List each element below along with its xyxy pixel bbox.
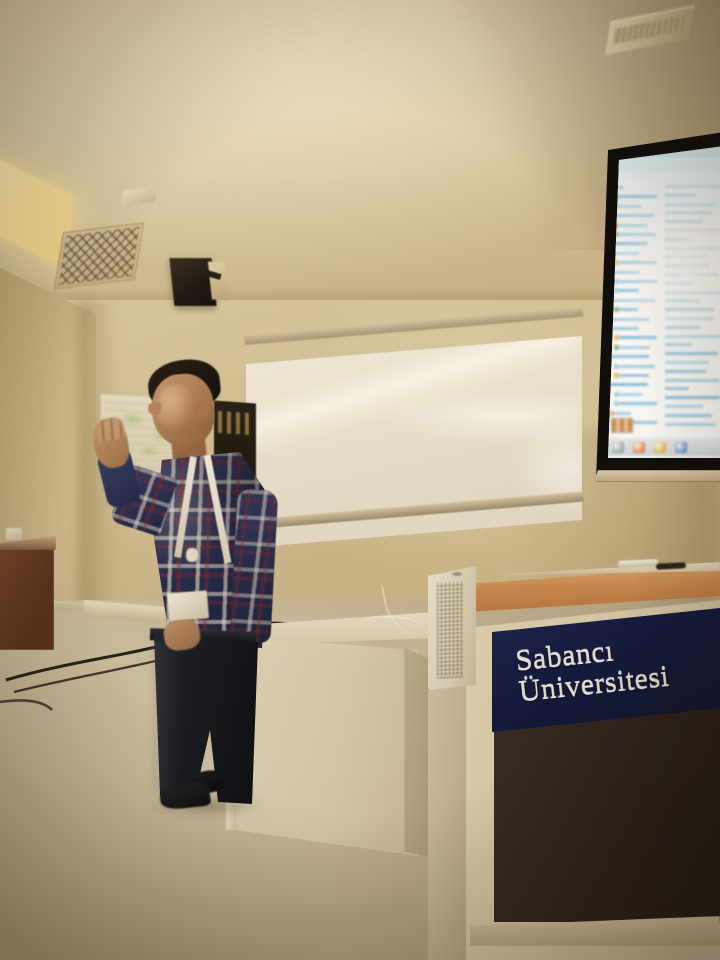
- screen-list-row: [665, 194, 696, 197]
- presenter-face-highlight: [156, 384, 196, 432]
- presenter-trousers-highlight: [152, 642, 192, 792]
- screen-tree-row: [619, 308, 638, 311]
- screen-list-row: [665, 335, 720, 338]
- screen-list-row: [665, 273, 718, 276]
- screen-tree-row: [614, 242, 648, 245]
- screen-tree-row: [619, 280, 660, 283]
- screen-tree-row: [619, 233, 656, 236]
- screen-file-list: [657, 180, 720, 438]
- projection-screen-display[interactable]: [605, 146, 720, 458]
- screen-taskbar-browser-icon[interactable]: [612, 442, 624, 453]
- screen-tree-item-icon: [614, 373, 619, 378]
- screen-tree-row: [619, 393, 643, 396]
- screen-tree-row: [619, 346, 650, 349]
- screen-tree-item-icon: [614, 401, 619, 406]
- screen-list-row: [665, 185, 720, 188]
- screen-tree-row: [619, 374, 649, 377]
- screen-tree-row: [614, 214, 654, 217]
- presenter-nose: [148, 402, 161, 415]
- screen-list-row: [665, 396, 720, 399]
- screen-list-row: [665, 343, 692, 346]
- screen-tree-row: [619, 402, 661, 405]
- screen-list-row: [665, 361, 709, 364]
- screen-list-row: [665, 352, 718, 355]
- screen-thumbnail-preview: [611, 418, 633, 433]
- wooden-desk: [0, 540, 54, 650]
- lanyard-knot: [186, 548, 198, 562]
- projection-screen-bottom-trim: [594, 470, 720, 482]
- screen-taskbar: [605, 438, 720, 456]
- screen-list-row: [665, 317, 714, 320]
- screen-list-row: [665, 387, 689, 390]
- screen-list-row: [665, 423, 716, 426]
- screen-tree-row: [614, 299, 656, 302]
- screen-list-row: [665, 299, 700, 302]
- screen-list-row: [665, 247, 719, 250]
- desk-object: [6, 528, 22, 540]
- screen-list-row: [665, 264, 709, 267]
- screen-taskbar-folder-icon[interactable]: [675, 442, 687, 453]
- screen-tree-item-icon: [609, 411, 614, 416]
- presenter-right-sleeve: [230, 489, 278, 643]
- screen-window-toolbar: [605, 158, 720, 171]
- screen-list-row: [665, 414, 712, 417]
- screen-tree-row: [608, 383, 648, 386]
- screen-tree-item-icon: [614, 392, 619, 397]
- screen-tree-row: [619, 224, 648, 227]
- screen-list-row: [665, 308, 714, 311]
- hvac-diffuser-grid-icon: [58, 227, 139, 285]
- screen-tree-row: [619, 205, 642, 208]
- screen-list-row: [665, 238, 689, 241]
- screen-tree-item-icon: [614, 335, 619, 340]
- presenter-ear: [196, 400, 210, 418]
- screen-tree-item-icon: [614, 364, 619, 369]
- screen-tree-row: [614, 327, 639, 330]
- screen-list-row: [665, 379, 719, 382]
- screen-tree-row: [614, 355, 649, 358]
- screen-list-row: [665, 229, 720, 232]
- screen-list-row: [665, 291, 720, 294]
- screen-tree-row: [619, 195, 661, 198]
- screen-tree-row: [614, 271, 640, 274]
- podium-speaker-indicator: [452, 572, 462, 576]
- screen-list-row: [665, 220, 703, 223]
- name-badge: [167, 590, 209, 621]
- screen-tree-row: [619, 289, 639, 292]
- screen-list-row: [665, 211, 712, 214]
- screen-list-row: [665, 203, 716, 206]
- screen-tree-row: [619, 365, 655, 368]
- presenter: [86, 352, 276, 812]
- screen-list-row: [665, 405, 703, 408]
- screen-tree-item-icon: [614, 307, 619, 312]
- screen-tree-item-icon: [614, 345, 619, 350]
- screen-tree-item-icon: [614, 279, 619, 284]
- photograph-scene: Sabancı Üniversitesi: [0, 0, 720, 960]
- screen-tree-row: [619, 336, 658, 339]
- screen-list-row: [665, 255, 706, 258]
- screen-tree-row: [614, 412, 631, 415]
- screen-tree-row: [608, 318, 649, 321]
- screen-list-row: [665, 326, 700, 329]
- screen-taskbar-media-icon[interactable]: [633, 442, 645, 453]
- screen-list-row: [665, 282, 693, 285]
- screen-tree-item-icon: [614, 288, 619, 293]
- screen-taskbar-document-icon[interactable]: [654, 442, 666, 453]
- screen-tree-row: [619, 261, 657, 264]
- screen-address-bar: [605, 171, 720, 180]
- screen-list-row: [665, 370, 706, 373]
